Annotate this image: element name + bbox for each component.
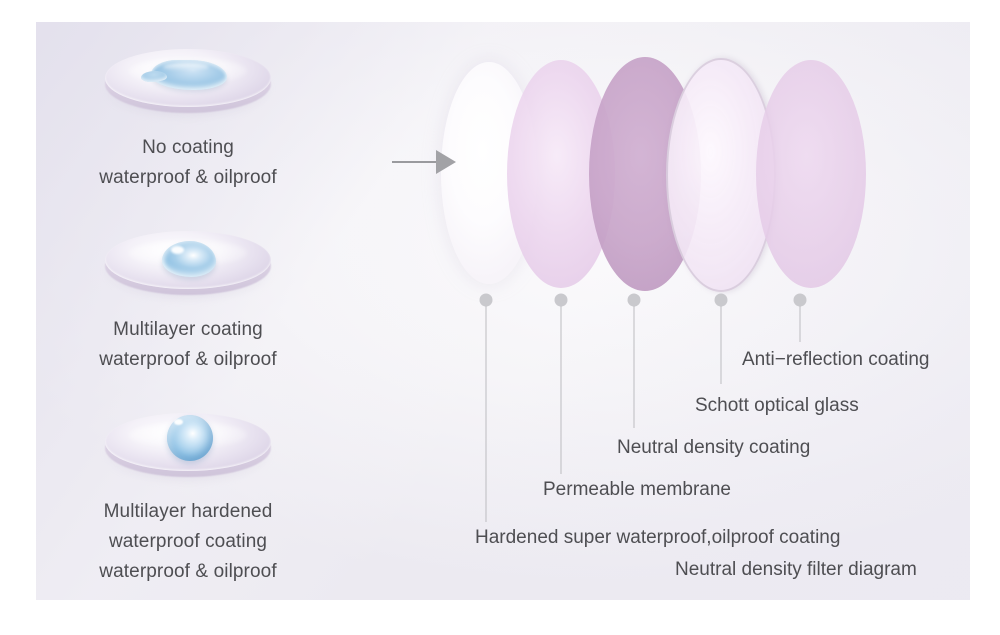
water-droplet-bead-icon (162, 241, 216, 277)
callout-label-hardened-coating: Hardened super waterproof,oilproof coati… (475, 527, 840, 549)
sample-caption-line1: Multilayer coating (38, 315, 338, 345)
sample-no-coating: No coating waterproof & oilproof (38, 45, 338, 193)
plate-surface (105, 49, 271, 107)
sample-multilayer-coating: Multilayer coating waterproof & oilproof (38, 227, 338, 375)
callout-label-schott-optical-glass: Schott optical glass (695, 395, 859, 417)
plate-surface (105, 413, 271, 471)
diagram-caption: Neutral density filter diagram (675, 559, 917, 581)
sample-caption-line2: waterproof coating (38, 527, 338, 557)
glass-plate (99, 45, 277, 119)
diagram-root: No coating waterproof & oilproof Multila… (0, 0, 1000, 635)
callout-label-neutral-density-coating: Neutral density coating (617, 437, 810, 459)
glass-plate (99, 227, 277, 301)
sample-caption-line2: waterproof & oilproof (38, 345, 338, 375)
plate-surface (105, 231, 271, 289)
sample-caption-line1: No coating (38, 133, 338, 163)
sample-caption-line1: Multilayer hardened (38, 497, 338, 527)
sample-caption: Multilayer hardened waterproof coating w… (38, 497, 338, 587)
sample-caption-line2: waterproof & oilproof (38, 163, 338, 193)
sample-caption-line3: waterproof & oilproof (38, 557, 338, 587)
sample-caption: No coating waterproof & oilproof (38, 133, 338, 193)
sample-multilayer-hardened-coating: Multilayer hardened waterproof coating w… (38, 409, 338, 587)
callout-label-permeable-membrane: Permeable membrane (543, 479, 731, 501)
glass-plate (99, 409, 277, 483)
sample-caption: Multilayer coating waterproof & oilproof (38, 315, 338, 375)
water-droplet-sphere-icon (167, 415, 213, 461)
callout-label-anti-reflection-coating: Anti−reflection coating (742, 349, 929, 371)
